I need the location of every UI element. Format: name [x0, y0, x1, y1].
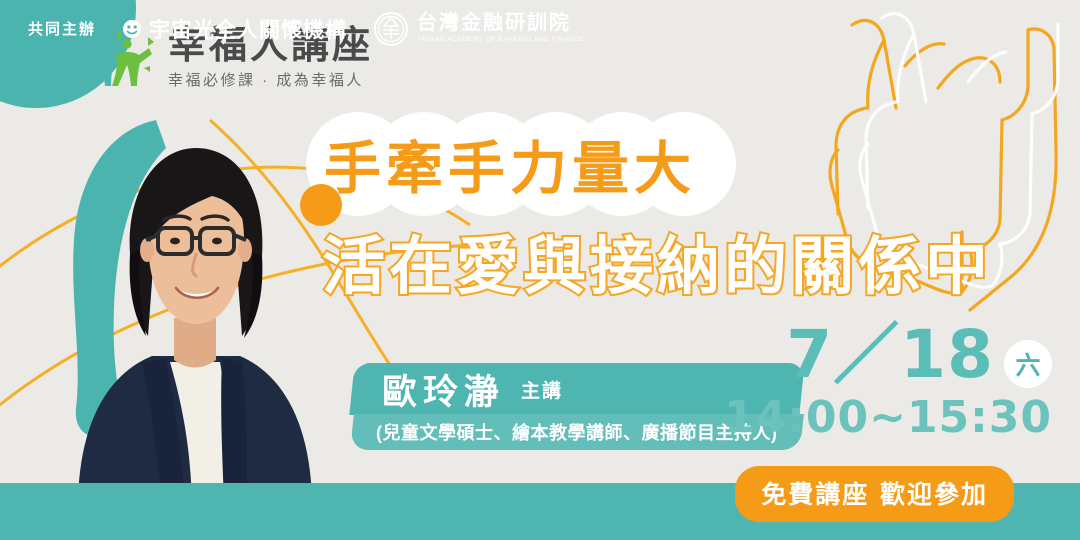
seminar-poster: 幸福人講座 幸福必修課 · 成為幸福人	[0, 0, 1080, 540]
tabf-seal-icon	[373, 11, 409, 47]
organizer-2: 台灣金融研訓院 TAIWAN ACADEMY OF BANKING AND FI…	[373, 11, 585, 47]
organizer-1-name: 宇宙光全人關懷機構	[149, 14, 347, 44]
title-line-1: 手牽手力量大	[300, 112, 1070, 216]
speaker-name: 歐玲瀞	[382, 364, 505, 415]
event-weekday-badge: 六	[1004, 340, 1052, 388]
free-seminar-badge: 免費講座 歡迎參加	[735, 466, 1014, 522]
speaker-portrait	[70, 104, 320, 500]
speaker-role: 主講	[521, 376, 563, 403]
footer-content: 共同主辦 宇宙光全人關懷機構 台灣金融研訓院 TAIWAN ACADEMY OF…	[28, 0, 585, 57]
event-date: 7／18	[786, 324, 994, 387]
speaker-photo	[60, 104, 320, 500]
orange-dot-decoration	[300, 184, 342, 226]
organizer-1: 宇宙光全人關懷機構	[122, 14, 347, 44]
logo-subtitle: 幸福必修課 · 成為幸福人	[168, 73, 364, 88]
event-time: 14:00~15:30	[724, 392, 1052, 443]
title-block: 手牽手力量大 活在愛與接納的關係中	[300, 112, 1070, 216]
organizer-2-name: 台灣金融研訓院	[417, 13, 585, 34]
event-date-block: 7／18 六 14:00~15:30	[724, 322, 1052, 443]
speaker-credentials: (兒童文學碩士、繪本教學講師、廣播節目主持人)	[376, 419, 778, 445]
co-organizer-label: 共同主辦	[28, 18, 96, 39]
title-line-2: 活在愛與接納的關係中	[322, 216, 992, 307]
circle-smiley-icon	[122, 19, 142, 39]
organizer-2-subtitle: TAIWAN ACADEMY OF BANKING AND FINANCE	[417, 37, 585, 44]
